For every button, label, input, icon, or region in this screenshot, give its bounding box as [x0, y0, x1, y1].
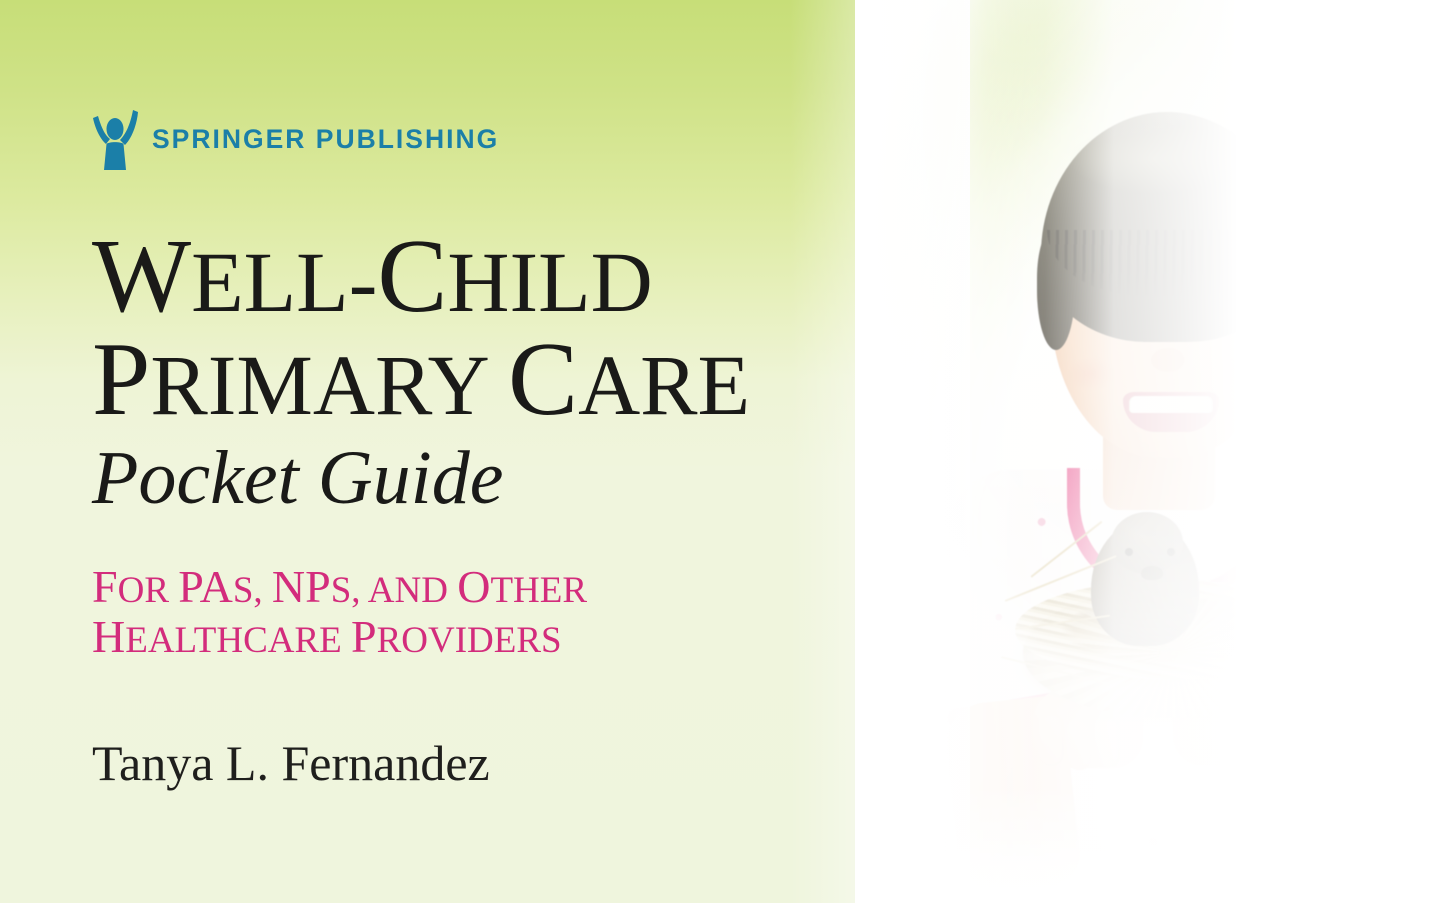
audience-statement: FOR PAS, NPS, AND OTHER HEALTHCARE PROVI…	[92, 562, 587, 661]
audience-smallcaps: THER	[490, 570, 587, 611]
audience-cap: PA	[178, 561, 233, 612]
publisher-name: SPRINGER PUBLISHING	[152, 126, 499, 153]
title-cap: C	[377, 217, 447, 334]
title-cap: P	[92, 320, 150, 437]
title-smallcaps: RIMARY	[150, 337, 508, 433]
audience-smallcaps: AND	[368, 570, 457, 611]
audience-cap: NP	[272, 561, 331, 612]
title-line-1: WELL-CHILD	[92, 217, 653, 334]
title-line-2: PRIMARY CARE	[92, 329, 750, 430]
photo-bottom-fade	[855, 783, 1445, 903]
page-title: WELL-CHILD PRIMARY CARE	[92, 226, 750, 430]
title-cap: W	[92, 217, 191, 334]
audience-cap: P	[351, 611, 377, 662]
title-smallcaps: ELL-	[191, 234, 377, 330]
author-name: Tanya L. Fernandez	[92, 738, 490, 788]
cover-photo	[855, 0, 1445, 903]
title-cap: C	[508, 320, 578, 437]
title-smallcaps: HILD	[447, 234, 652, 330]
audience-smallcaps: OR	[118, 570, 179, 611]
audience-line-1: FOR PAS, NPS, AND OTHER	[92, 562, 587, 612]
audience-smallcaps: ROVIDERS	[377, 620, 562, 661]
audience-smallcaps: EALTHCARE	[125, 620, 351, 661]
audience-smallcaps: S,	[233, 570, 272, 611]
audience-cap: F	[92, 561, 118, 612]
person-arms-raised-icon	[92, 108, 138, 170]
audience-cap: O	[457, 561, 490, 612]
book-cover: SPRINGER PUBLISHING WELL-CHILD PRIMARY C…	[0, 0, 1445, 903]
publisher-logo[interactable]: SPRINGER PUBLISHING	[92, 108, 499, 170]
audience-cap: H	[92, 611, 125, 662]
photo-top-fade	[855, 0, 1445, 150]
page-subtitle: Pocket Guide	[92, 440, 503, 516]
audience-line-2: HEALTHCARE PROVIDERS	[92, 612, 587, 662]
title-smallcaps: ARE	[578, 337, 750, 433]
audience-smallcaps: S,	[331, 570, 368, 611]
